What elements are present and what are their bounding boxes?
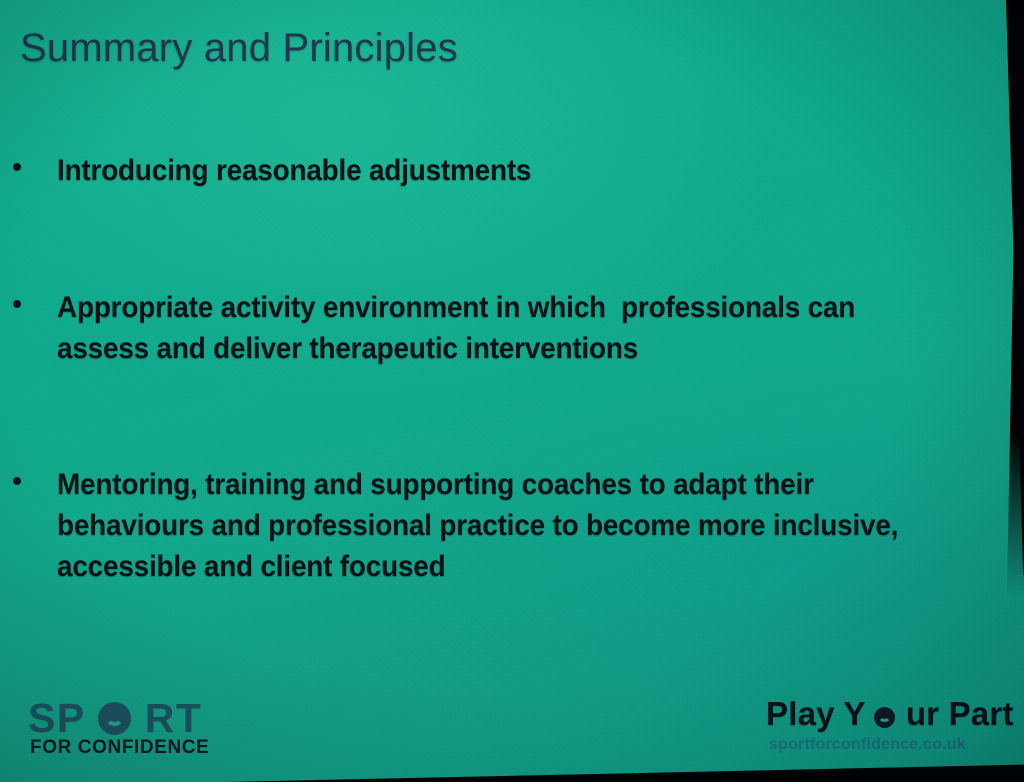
- play-your-part-logo: Play Y ur Part ™ sportforconfidence.co.u…: [766, 689, 1006, 754]
- slide-content: Summary and Principles Introducing reaso…: [0, 0, 1024, 782]
- list-item-label: Appropriate activity environment in whic…: [57, 287, 934, 369]
- smile-o-icon: [98, 702, 132, 736]
- sport-wordmark-part2: RT: [145, 695, 203, 741]
- bullet-dot-icon: [13, 300, 21, 308]
- list-item-label: Mentoring, training and supporting coach…: [57, 464, 934, 587]
- pyp-wordmark-part2: ur Part: [906, 695, 1014, 732]
- sport-for-confidence-logo: SP RT FOR CONFIDENCE: [28, 696, 228, 768]
- bullet-list: Introducing reasonable adjustments Appro…: [0, 150, 1000, 587]
- smile-o-icon: [874, 705, 896, 727]
- list-item: Introducing reasonable adjustments: [0, 150, 1000, 191]
- bullet-dot-icon: [13, 163, 21, 171]
- projected-slide-photo: Summary and Principles Introducing reaso…: [0, 0, 1024, 782]
- page-title: Summary and Principles: [20, 26, 458, 71]
- pyp-wordmark-part1: Play Y: [766, 695, 865, 732]
- sport-wordmark: SP RT: [28, 696, 228, 740]
- list-item-label: Introducing reasonable adjustments: [57, 150, 934, 191]
- sport-wordmark-part1: SP: [28, 695, 85, 741]
- website-url-label: sportforconfidence.co.uk: [766, 736, 1006, 754]
- list-item: Mentoring, training and supporting coach…: [0, 464, 1000, 587]
- list-item: Appropriate activity environment in whic…: [0, 287, 1000, 369]
- play-your-part-wordmark: Play Y ur Part ™: [766, 689, 1006, 732]
- bullet-dot-icon: [13, 477, 21, 485]
